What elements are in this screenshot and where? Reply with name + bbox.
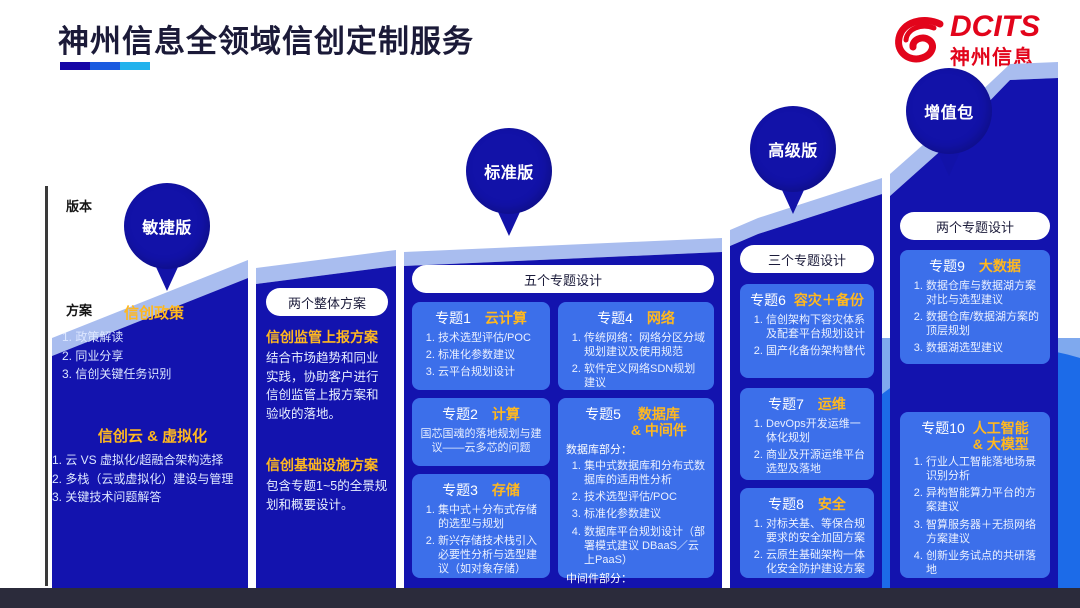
list-item: 数据湖选型建议 — [926, 341, 1042, 355]
list-item: 云原生基础架构一体化安全防护建设方案 — [766, 548, 866, 576]
list-item: 标准化参数建议 — [584, 507, 706, 521]
card-topic-7: 专题7 运维 DevOps开发运维一体化规划 商业及开源运维平台选型及落地 — [740, 388, 874, 480]
pin-marker-standard: 标准版 — [466, 128, 552, 236]
block-heading: 信创基础设施方案 — [266, 455, 390, 475]
block-cloud-virtualization: 信创云 & 虚拟化 1. 云 VS 虚拟化/超融合架构选择 2. 多栈（云或虚拟… — [50, 425, 255, 507]
pin-label: 敏捷版 — [124, 183, 210, 269]
list-item: 信创架构下容灾体系及配套平台规划设计 — [766, 313, 866, 341]
card-header: 专题4 网络 — [566, 308, 706, 328]
list-item: 新兴存储技术栈引入必要性分析与选型建议（如对象存储） — [438, 534, 542, 576]
block-infrastructure-plan: 信创基础设施方案 包含专题1~5的全景规划和概要设计。 — [266, 455, 390, 514]
list-item: 3. 关键技术问题解答 — [52, 488, 255, 507]
underline-seg-3 — [120, 62, 150, 70]
card-list: 数据仓库与数据湖方案对比与选型建议 数据仓库/数据湖方案的顶层规划 数据湖选型建… — [908, 279, 1042, 355]
pin-marker-value-added: 增值包 — [906, 68, 992, 176]
card-keyword: 人工智能 & 大模型 — [973, 420, 1029, 452]
slide-canvas: 神州信息全领域信创定制服务 DCITS 神州信息 版本 方案 信创政策 1. 政… — [0, 0, 1080, 608]
list-item: 3. 信创关键任务识别 — [62, 365, 248, 384]
list-item: 云平台规划设计 — [438, 365, 542, 379]
card-header: 专题2 计算 — [420, 404, 542, 424]
card-number: 专题3 — [442, 480, 478, 500]
list-item: 2. 同业分享 — [62, 347, 248, 366]
card-topic-8: 专题8 安全 对标关基、等保合规要求的安全加固方案 云原生基础架构一体化安全防护… — [740, 488, 874, 578]
block-list: 1. 云 VS 虚拟化/超融合架构选择 2. 多栈（云或虚拟化）建设与管理 3.… — [50, 451, 255, 507]
card-number: 专题5 — [585, 404, 621, 424]
list-item: 商业及开源运维平台选型及落地 — [766, 448, 866, 476]
card-topic-6: 专题6 容灾＋备份 信创架构下容灾体系及配套平台规划设计 国产化备份架构替代 — [740, 284, 874, 378]
card-header: 专题3 存储 — [420, 480, 542, 500]
card-topic-3: 专题3 存储 集中式＋分布式存储的选型与规划 新兴存储技术栈引入必要性分析与选型… — [412, 474, 550, 578]
pin-label: 高级版 — [750, 106, 836, 192]
card-keyword: 存储 — [492, 482, 520, 498]
card-keyword: 大数据 — [979, 258, 1021, 274]
pin-marker-agile: 敏捷版 — [124, 183, 210, 291]
block-paragraph: 包含专题1~5的全景规划和概要设计。 — [266, 477, 390, 514]
list-item: 创新业务试点的共研落地 — [926, 549, 1042, 577]
card-topic-9: 专题9 大数据 数据仓库与数据湖方案对比与选型建议 数据仓库/数据湖方案的顶层规… — [900, 250, 1050, 364]
list-item: 数据仓库与数据湖方案对比与选型建议 — [926, 279, 1042, 307]
list-item: 1. 云 VS 虚拟化/超融合架构选择 — [52, 451, 255, 470]
card-list: 对标关基、等保合规要求的安全加固方案 云原生基础架构一体化安全防护建设方案 — [748, 517, 866, 576]
bottom-bar — [0, 588, 1080, 608]
card-topic-4: 专题4 网络 传统网络：网络分区分域规划建议及使用规范 软件定义网络SDN规划建… — [558, 302, 714, 390]
card-number: 专题2 — [442, 404, 478, 424]
underline-seg-1 — [60, 62, 90, 70]
block-heading: 信创政策 — [60, 302, 248, 323]
capsule-three-topics: 三个专题设计 — [740, 245, 874, 273]
card-header: 专题6 容灾＋备份 — [748, 290, 866, 310]
card-header: 专题8 安全 — [748, 494, 866, 514]
title-underline — [60, 62, 150, 70]
card-header: 专题7 运维 — [748, 394, 866, 414]
card-keyword: 容灾＋备份 — [794, 292, 864, 308]
list-item: 国产化备份架构替代 — [766, 344, 866, 358]
underline-seg-2 — [90, 62, 120, 70]
block-heading: 信创云 & 虚拟化 — [50, 425, 255, 446]
card-header: 专题1 云计算 — [420, 308, 542, 328]
card-keyword: 数据库 & 中间件 — [631, 406, 687, 438]
card-number: 专题6 — [750, 290, 786, 310]
pin-marker-advanced: 高级版 — [750, 106, 836, 214]
vertical-axis — [45, 186, 48, 586]
capsule-two-topics: 两个专题设计 — [900, 212, 1050, 240]
card-topic-2: 专题2 计算 国芯国魂的落地规划与建议——云多芯的问题 — [412, 398, 550, 466]
list-item: 异构智能算力平台的方案建议 — [926, 486, 1042, 514]
card-keyword: 计算 — [492, 406, 520, 422]
logo-brand-text: DCITS — [950, 10, 1040, 44]
pin-label: 增值包 — [906, 68, 992, 154]
card-keyword: 安全 — [818, 496, 846, 512]
list-item: 标准化参数建议 — [438, 348, 542, 362]
block-paragraph: 结合市场趋势和同业实践，协助客户进行信创监管上报方案和验收的落地。 — [266, 349, 390, 423]
list-item: 数据仓库/数据湖方案的顶层规划 — [926, 310, 1042, 338]
card-note: 国芯国魂的落地规划与建议——云多芯的问题 — [420, 427, 542, 455]
list-item: 行业人工智能落地场景识别分析 — [926, 455, 1042, 483]
card-number: 专题8 — [768, 494, 804, 514]
block-heading: 信创监管上报方案 — [266, 327, 390, 347]
list-item: 2. 多栈（云或虚拟化）建设与管理 — [52, 470, 255, 489]
list-item: 技术选型评估/POC — [438, 331, 542, 345]
card-header: 专题9 大数据 — [908, 256, 1042, 276]
list-item: 技术选型评估/POC — [584, 490, 706, 504]
card-subheading-db: 数据库部分： — [566, 441, 706, 457]
list-item: 集中式＋分布式存储的选型与规划 — [438, 503, 542, 531]
list-item: 集中式数据库和分布式数据库的适用性分析 — [584, 459, 706, 487]
card-topic-1: 专题1 云计算 技术选型评估/POC 标准化参数建议 云平台规划设计 — [412, 302, 550, 390]
capsule-five-topics: 五个专题设计 — [412, 265, 714, 293]
block-list: 1. 政策解读 2. 同业分享 3. 信创关键任务识别 — [60, 328, 248, 384]
page-title: 神州信息全领域信创定制服务 — [58, 16, 474, 61]
card-keyword: 运维 — [818, 396, 846, 412]
card-header: 专题5 数据库 & 中间件 — [566, 404, 706, 438]
list-item: 对标关基、等保合规要求的安全加固方案 — [766, 517, 866, 545]
card-list: 集中式数据库和分布式数据库的适用性分析 技术选型评估/POC 标准化参数建议 数… — [566, 459, 706, 567]
card-number: 专题1 — [435, 308, 471, 328]
card-keyword: 云计算 — [485, 310, 527, 326]
card-number: 专题10 — [921, 418, 965, 438]
list-item: 软件定义网络SDN规划建议 — [584, 362, 706, 390]
card-number: 专题7 — [768, 394, 804, 414]
card-number: 专题9 — [929, 256, 965, 276]
card-subheading-mw: 中间件部分： — [566, 570, 706, 586]
card-list: 技术选型评估/POC 标准化参数建议 云平台规划设计 — [420, 331, 542, 379]
list-item: 数据库平台规划设计（部署模式建议 DBaaS／云上PaaS） — [584, 525, 706, 567]
list-item: 传统网络：网络分区分域规划建议及使用规范 — [584, 331, 706, 359]
card-topic-10: 专题10 人工智能 & 大模型 行业人工智能落地场景识别分析 异构智能算力平台的… — [900, 412, 1050, 578]
card-list: 信创架构下容灾体系及配套平台规划设计 国产化备份架构替代 — [748, 313, 866, 358]
card-number: 专题4 — [597, 308, 633, 328]
list-item: 智算服务器＋无损网络方案建议 — [926, 518, 1042, 546]
card-topic-5: 专题5 数据库 & 中间件 数据库部分： 集中式数据库和分布式数据库的适用性分析… — [558, 398, 714, 578]
capsule-two-overall-plans: 两个整体方案 — [266, 288, 388, 316]
card-list: DevOps开发运维一体化规划 商业及开源运维平台选型及落地 — [748, 417, 866, 476]
block-supervision-report-plan: 信创监管上报方案 结合市场趋势和同业实践，协助客户进行信创监管上报方案和验收的落… — [266, 327, 390, 423]
card-keyword: 网络 — [647, 310, 675, 326]
card-list: 传统网络：网络分区分域规划建议及使用规范 软件定义网络SDN规划建议 — [566, 331, 706, 390]
card-list: 集中式＋分布式存储的选型与规划 新兴存储技术栈引入必要性分析与选型建议（如对象存… — [420, 503, 542, 576]
block-xinchuang-policy: 信创政策 1. 政策解读 2. 同业分享 3. 信创关键任务识别 — [60, 302, 248, 384]
card-list: 行业人工智能落地场景识别分析 异构智能算力平台的方案建议 智算服务器＋无损网络方… — [908, 455, 1042, 577]
list-item: 1. 政策解读 — [62, 328, 248, 347]
card-header: 专题10 人工智能 & 大模型 — [908, 418, 1042, 452]
axis-label-version: 版本 — [66, 196, 92, 215]
list-item: DevOps开发运维一体化规划 — [766, 417, 866, 445]
pin-label: 标准版 — [466, 128, 552, 214]
